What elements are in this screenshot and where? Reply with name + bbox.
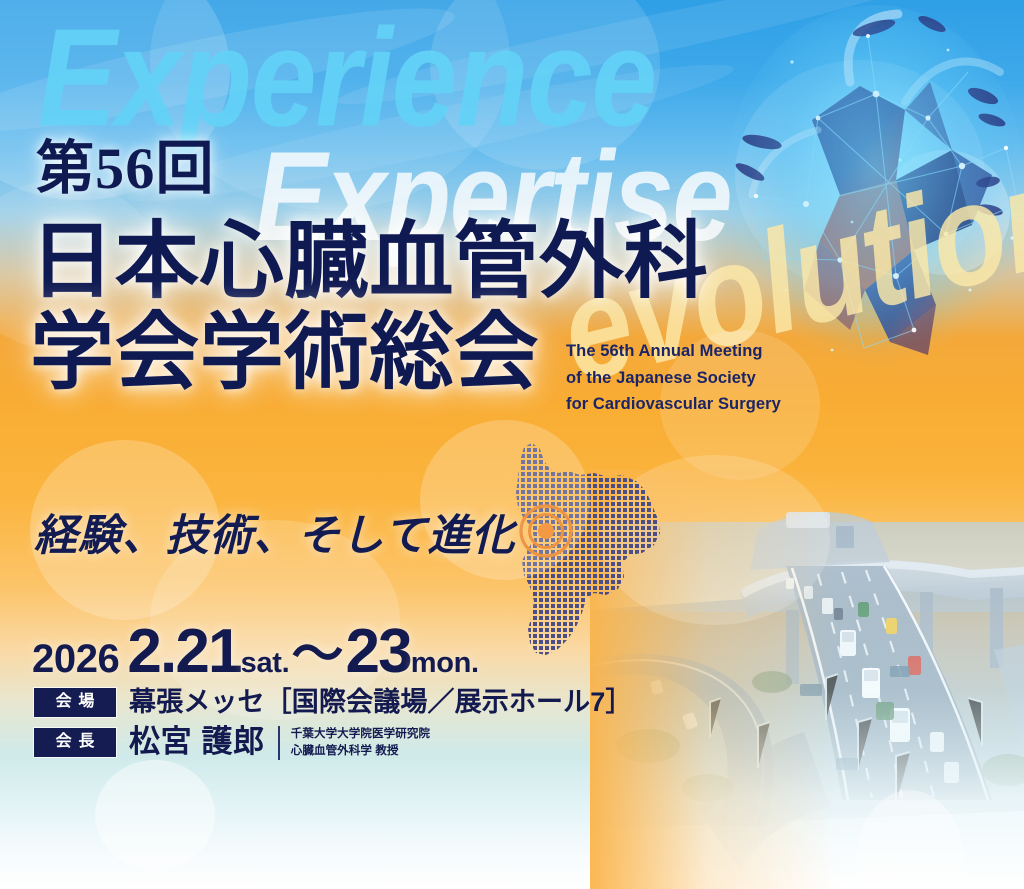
venue-name: 幕張メッセ［国際会議場／展示ホール7］ [129, 688, 633, 716]
title-line-1: 日本心臓血管外科 [30, 216, 709, 309]
chiba-dot-map-icon [490, 435, 680, 675]
chair-affiliation-line-2: 心臓血管外科学 教授 [291, 743, 430, 760]
chair-affiliation-line-1: 千葉大学大学院医学研究院 [291, 726, 430, 743]
chair-row: 会長 松宮 護郎 千葉大学大学院医学研究院 心臓血管外科学 教授 [34, 726, 633, 760]
english-title-line-1: The 56th Annual Meeting [566, 338, 781, 365]
chair-badge: 会長 [34, 728, 116, 757]
date-separator: 〜 [291, 626, 343, 684]
heart-glow-decoration [740, 20, 1010, 350]
event-start-dow: sat. [241, 647, 290, 679]
light-streak-decoration [0, 0, 461, 153]
edition-text: 第56回 [36, 136, 215, 201]
bokeh-circle-decoration [855, 790, 965, 889]
tagline: 経験、技術、そして進化 [34, 515, 515, 558]
bokeh-circle-decoration [430, 0, 660, 170]
aqualine-highway-illustration [590, 470, 1024, 889]
event-end-day: 23 [345, 617, 410, 686]
chair-affiliation: 千葉大学大学院医学研究院 心臓血管外科学 教授 [278, 726, 430, 760]
chair-name: 松宮 護郎 [129, 726, 265, 759]
watermark-experience: Experience [38, 0, 656, 158]
english-title-line-3: for Cardiovascular Surgery [566, 391, 781, 418]
english-title-line-2: of the Japanese Society [566, 365, 781, 392]
bokeh-circle-decoration [600, 455, 830, 625]
light-streak-decoration [333, 0, 947, 120]
edition-number: 第56回 [36, 140, 215, 198]
venue-location-marker [521, 506, 571, 556]
venue-row: 会場 幕張メッセ［国際会議場／展示ホール7］ [34, 688, 633, 717]
bokeh-circle-decoration [880, 150, 1010, 275]
bokeh-circle-decoration [95, 760, 215, 870]
chiba-map [490, 435, 680, 675]
english-title: The 56th Annual Meeting of the Japanese … [566, 338, 781, 418]
event-date: 20262.21sat.〜23mon. [32, 612, 479, 687]
event-start-day: 2.21 [127, 617, 240, 686]
event-year: 2026 [32, 637, 119, 681]
bokeh-circle-decoration [735, 60, 985, 290]
info-block: 会場 幕張メッセ［国際会議場／展示ホール7］ 会長 松宮 護郎 千葉大学大学院医… [34, 688, 633, 769]
conference-poster: Experience [0, 0, 1024, 889]
venue-badge: 会場 [34, 688, 116, 717]
event-end-dow: mon. [411, 647, 479, 679]
highway-photo [590, 470, 1024, 889]
